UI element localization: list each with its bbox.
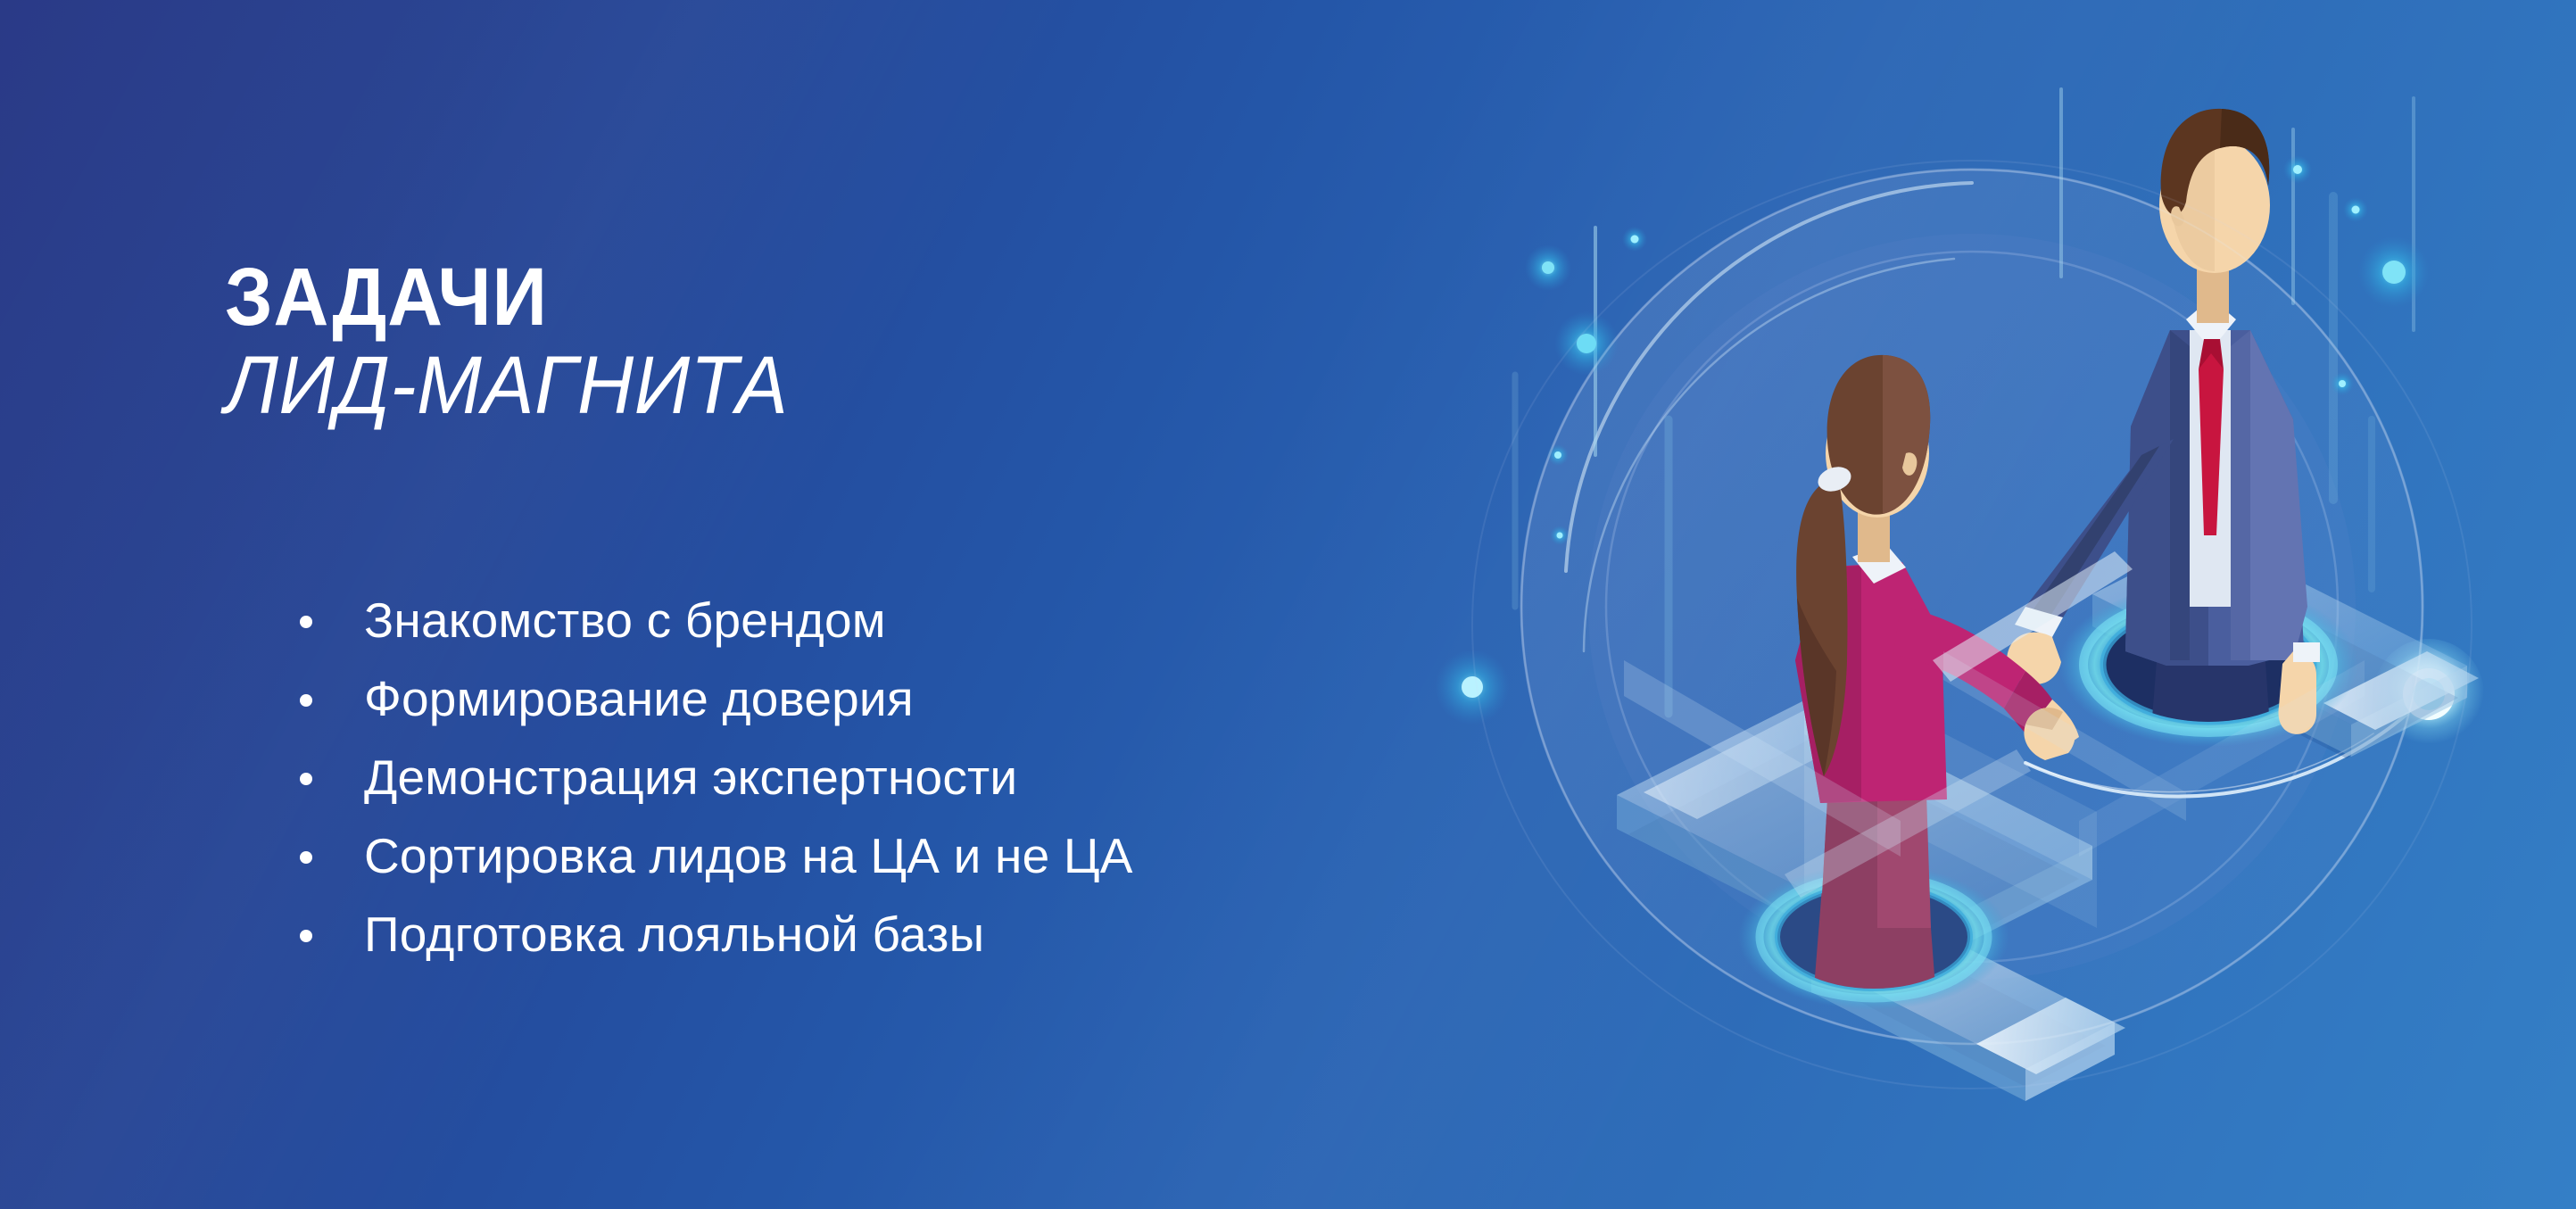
- bullet-dot-icon: [300, 694, 312, 707]
- list-item: Формирование доверия: [300, 675, 1133, 753]
- bullet-dot-icon: [300, 773, 312, 785]
- heading-block: ЗАДАЧИ ЛИД-МАГНИТА: [225, 257, 1278, 429]
- page-title-line1: ЗАДАЧИ: [225, 257, 1204, 337]
- slide-root: ЗАДАЧИ ЛИД-МАГНИТА Знакомство с брендом …: [0, 0, 2576, 1209]
- list-item: Сортировка лидов на ЦА и не ЦА: [300, 832, 1133, 910]
- handshake-isometric-illustration: [1401, 36, 2576, 1209]
- bullet-dot-icon: [300, 616, 312, 628]
- list-item-label: Знакомство с брендом: [364, 596, 886, 645]
- list-item: Подготовка лояльной базы: [300, 910, 1133, 989]
- list-item: Демонстрация экспертности: [300, 753, 1133, 832]
- bullet-dot-icon: [300, 930, 312, 942]
- task-list: Знакомство с брендом Формирование довери…: [300, 596, 1133, 989]
- list-item-label: Демонстрация экспертности: [364, 753, 1017, 802]
- page-title-line2: ЛИД-МАГНИТА: [225, 343, 1225, 429]
- bullet-dot-icon: [300, 851, 312, 864]
- list-item: Знакомство с брендом: [300, 596, 1133, 675]
- list-item-label: Сортировка лидов на ЦА и не ЦА: [364, 832, 1133, 881]
- list-item-label: Подготовка лояльной базы: [364, 910, 984, 959]
- list-item-label: Формирование доверия: [364, 675, 914, 724]
